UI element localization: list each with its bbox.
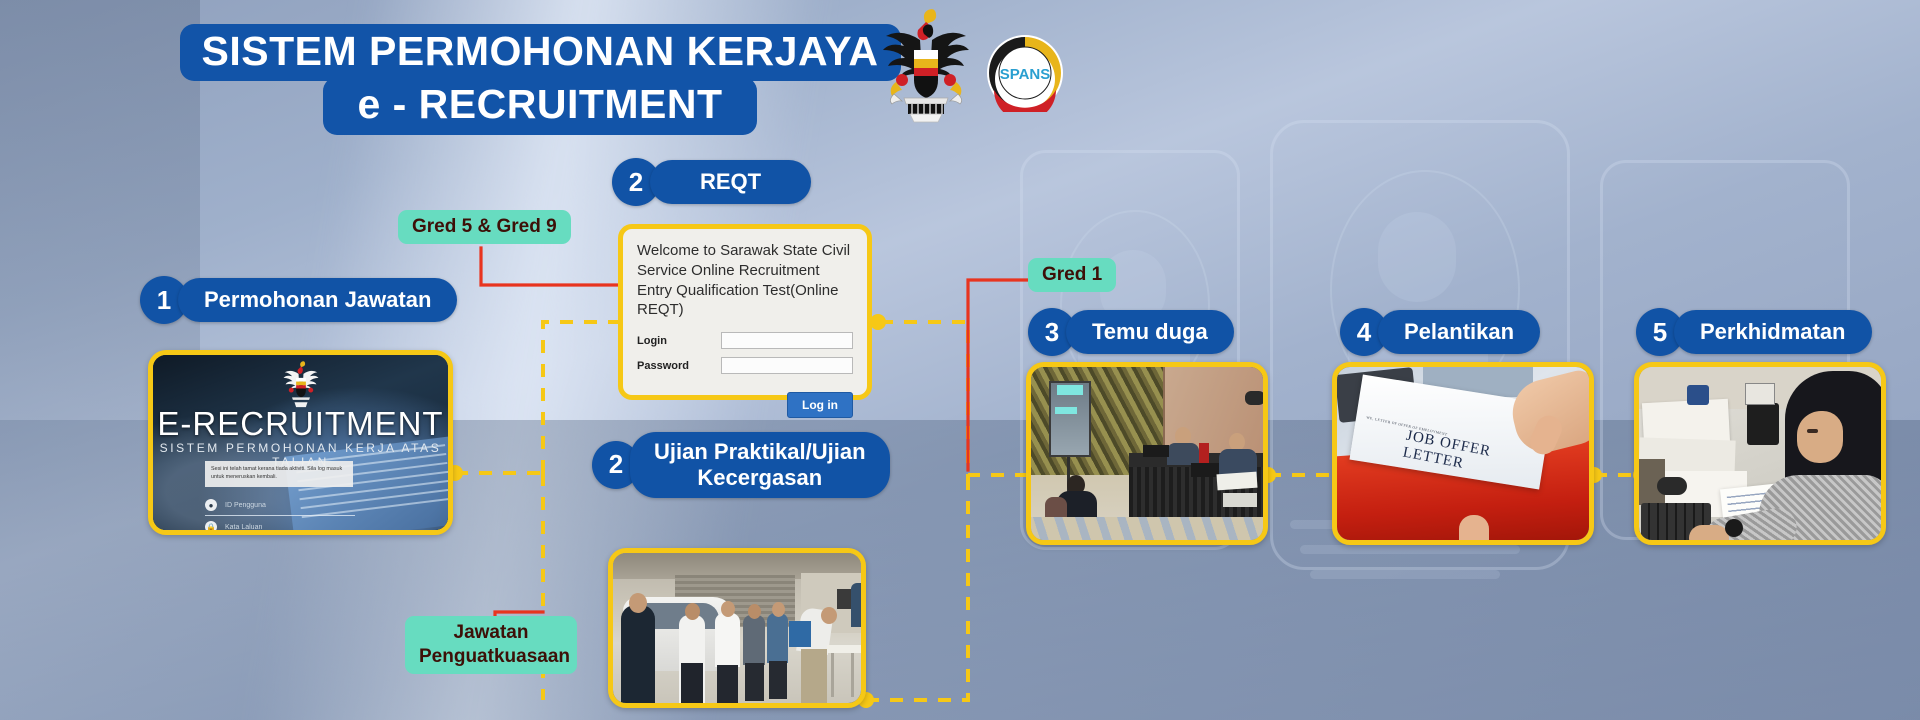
ghost-bar-2 bbox=[1300, 545, 1520, 554]
mouse bbox=[1657, 477, 1687, 495]
reqt-login-row: Login bbox=[637, 332, 853, 349]
step-5-label: Perkhidmatan bbox=[1674, 310, 1872, 354]
photo-service[interactable] bbox=[1634, 362, 1886, 545]
reqt-login-panel[interactable]: Welcome to Sarawak State Civil Service O… bbox=[618, 224, 872, 400]
officer-signing-head bbox=[821, 607, 837, 624]
job-offer-scene: JOB OFFER LETTER WE, LETTER OF OFFER OF … bbox=[1337, 367, 1589, 540]
pen-holder bbox=[1687, 385, 1709, 405]
officer-2-head bbox=[685, 603, 700, 620]
erecruitment-userid-placeholder: ID Pengguna bbox=[225, 502, 266, 509]
erecruitment-session-notice: Sesi ini telah tamat kerana tiada aktivi… bbox=[205, 461, 353, 487]
step-2-ujian-label: Ujian Praktikal/Ujian Kecergasan bbox=[630, 432, 890, 498]
infographic-stage: SISTEM PERMOHONAN KERJAYA e - RECRUITMEN… bbox=[0, 0, 1920, 720]
screen-highlight-2 bbox=[1055, 407, 1077, 414]
logo-group: SPANS bbox=[880, 6, 1064, 124]
officer-1 bbox=[621, 605, 655, 703]
lock-icon: 🔒 bbox=[205, 521, 217, 530]
officer-5 bbox=[767, 613, 788, 663]
service-scene bbox=[1639, 367, 1881, 540]
panelist-1-tie bbox=[1199, 443, 1209, 465]
erecruitment-crest-icon bbox=[280, 360, 322, 408]
step-1-label: Permohonan Jawatan bbox=[178, 278, 457, 322]
spans-logo-icon: SPANS bbox=[986, 34, 1064, 112]
reqt-login-label: Login bbox=[637, 335, 721, 347]
ghost-block-3 bbox=[1378, 212, 1456, 302]
step-2-ujian-praktikal[interactable]: 2 Ujian Praktikal/Ujian Kecergasan bbox=[592, 432, 890, 498]
reqt-password-label: Password bbox=[637, 360, 721, 372]
photo-erecruitment-login[interactable]: E-RECRUITMENT SISTEM PERMOHONAN KERJA AT… bbox=[148, 350, 453, 535]
spans-logo-text: SPANS bbox=[1000, 66, 1051, 83]
title-line-2: e - RECRUITMENT bbox=[323, 77, 756, 134]
officer-3-head bbox=[721, 601, 735, 617]
officer-signing-legs bbox=[801, 649, 827, 703]
officer-3 bbox=[715, 613, 740, 667]
step-4-pelantikan[interactable]: 4 Pelantikan bbox=[1340, 308, 1540, 356]
officer-3-legs bbox=[717, 665, 738, 703]
page-title: SISTEM PERMOHONAN KERJAYA e - RECRUITMEN… bbox=[160, 24, 920, 135]
step-3-temu-duga[interactable]: 3 Temu duga bbox=[1028, 308, 1234, 356]
lower-thumb bbox=[1459, 515, 1489, 540]
person-icon: ● bbox=[205, 499, 217, 511]
practical-test-scene bbox=[613, 553, 861, 703]
erecruitment-password-field[interactable]: 🔒 Kata Laluan bbox=[205, 521, 355, 530]
badge-gred-5-and-9: Gred 5 & Gred 9 bbox=[398, 210, 571, 244]
step-5-perkhidmatan[interactable]: 5 Perkhidmatan bbox=[1636, 308, 1872, 356]
officer-4-head bbox=[748, 604, 761, 619]
erecruitment-userid-field[interactable]: ● ID Pengguna bbox=[205, 499, 355, 516]
laptop-2 bbox=[1191, 463, 1219, 477]
wristwatch bbox=[1725, 519, 1743, 537]
reqt-password-row: Password bbox=[637, 357, 853, 374]
officer-1-head bbox=[629, 593, 647, 613]
officer-5-head bbox=[772, 602, 785, 617]
screen-highlight bbox=[1057, 385, 1083, 395]
photo-practical-test[interactable] bbox=[608, 548, 866, 708]
calculator bbox=[1745, 383, 1775, 405]
step-1-permohonan-jawatan[interactable]: 1 Permohonan Jawatan bbox=[140, 276, 457, 324]
photo-interview[interactable] bbox=[1026, 362, 1268, 545]
interview-scene bbox=[1031, 367, 1263, 540]
papers-on-table-2 bbox=[1223, 493, 1257, 507]
officer-eye bbox=[1807, 429, 1818, 433]
erecruitment-password-placeholder: Kata Laluan bbox=[225, 524, 262, 531]
officer-4 bbox=[743, 615, 765, 665]
signing-table-legs bbox=[831, 653, 861, 697]
papers-on-table bbox=[1216, 472, 1257, 491]
officer-2-legs bbox=[681, 663, 703, 703]
sarawak-state-crest-icon bbox=[880, 6, 972, 124]
floor-carpet bbox=[1031, 517, 1263, 540]
reqt-login-input[interactable] bbox=[721, 332, 853, 349]
equipment-blue bbox=[789, 621, 811, 647]
badge-gred-1: Gred 1 bbox=[1028, 258, 1116, 292]
badge-jawatan-penguatkuasaan: Jawatan Penguatkuasaan bbox=[405, 616, 577, 674]
laptop-1 bbox=[1143, 445, 1169, 457]
step-2-reqt[interactable]: 2 REQT bbox=[612, 158, 811, 206]
step-3-label: Temu duga bbox=[1066, 310, 1234, 354]
erecruitment-heading: E-RECRUITMENT bbox=[153, 405, 448, 443]
officer-4-legs bbox=[745, 663, 764, 701]
worker-background bbox=[851, 583, 861, 627]
photo-job-offer-letter[interactable]: JOB OFFER LETTER WE, LETTER OF OFFER OF … bbox=[1332, 362, 1594, 545]
panelist-1-body bbox=[1167, 443, 1199, 465]
step-4-label: Pelantikan bbox=[1378, 310, 1540, 354]
desk-phone bbox=[1747, 403, 1779, 445]
reqt-login-button[interactable]: Log in bbox=[787, 392, 853, 418]
reqt-welcome-text: Welcome to Sarawak State Civil Service O… bbox=[637, 241, 853, 320]
erecruitment-screenshot: E-RECRUITMENT SISTEM PERMOHONAN KERJA AT… bbox=[153, 355, 448, 530]
step-2-reqt-label: REQT bbox=[650, 160, 811, 204]
title-line-1: SISTEM PERMOHONAN KERJAYA bbox=[180, 24, 901, 81]
ghost-bar-3 bbox=[1310, 570, 1500, 579]
reqt-password-input[interactable] bbox=[721, 357, 853, 374]
officer-5-legs bbox=[769, 661, 787, 699]
officer-face bbox=[1797, 411, 1843, 463]
officer-hand bbox=[1689, 525, 1729, 540]
signing-table bbox=[827, 645, 861, 653]
wall-speaker bbox=[1245, 391, 1263, 405]
